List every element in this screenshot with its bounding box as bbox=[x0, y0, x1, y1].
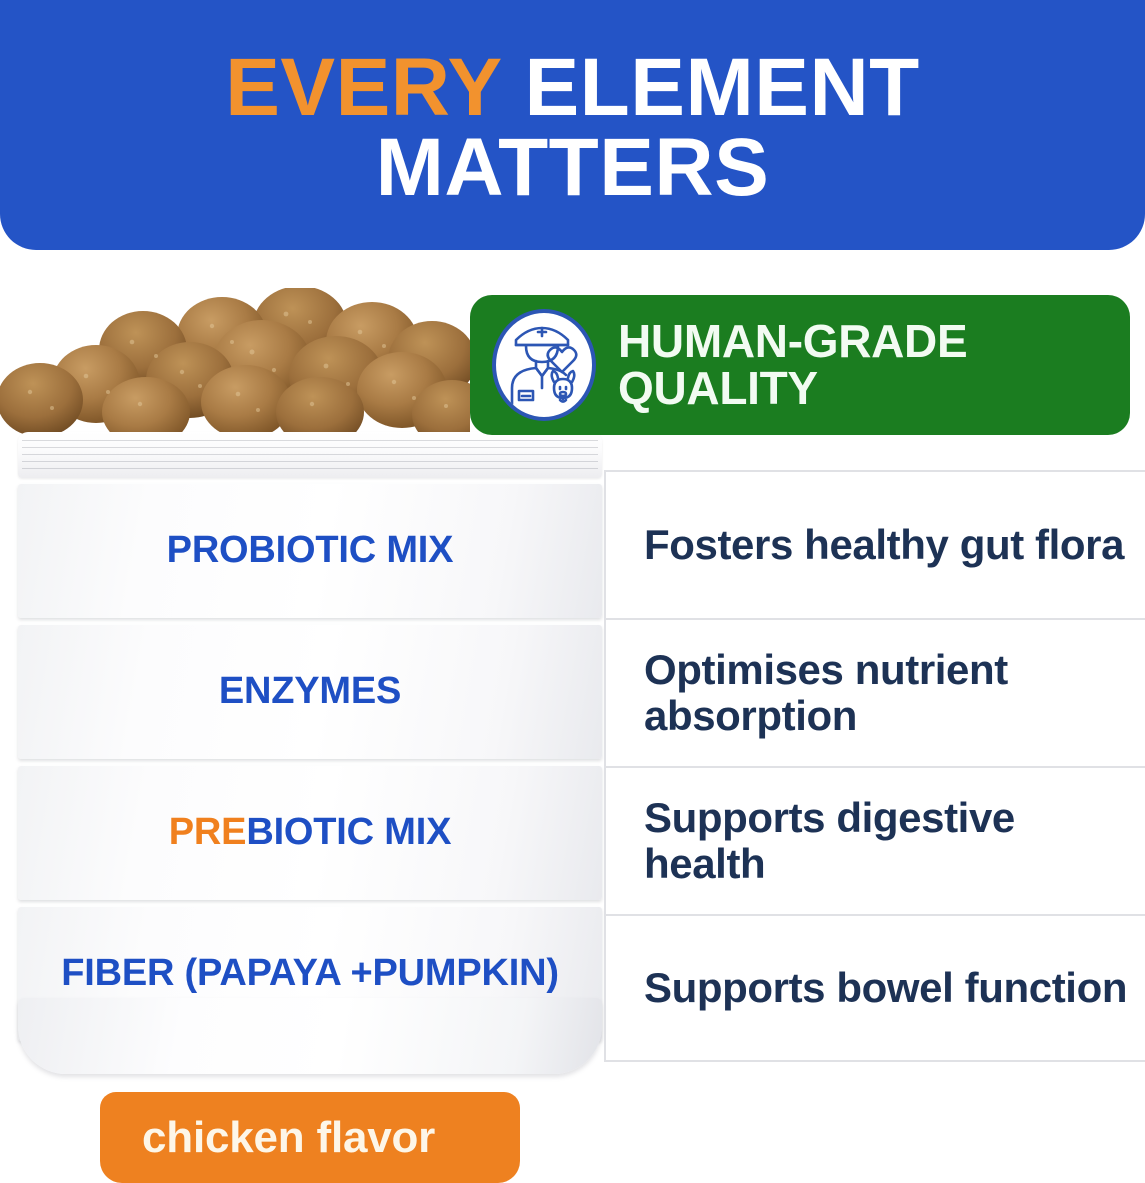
benefits-column: Fosters healthy gut flora Optimises nutr… bbox=[604, 470, 1145, 1062]
dog-treat-kibble-pile-icon bbox=[0, 288, 470, 438]
ingredient-label: PREBIOTIC MIX bbox=[145, 813, 475, 853]
benefit-text: Supports bowel function bbox=[644, 965, 1127, 1011]
jar-segment-enzymes: ENZYMES bbox=[18, 625, 602, 759]
vet-with-dog-and-heart-icon bbox=[492, 309, 596, 421]
flavor-tag-label: chicken flavor bbox=[142, 1113, 435, 1163]
benefit-row: Supports bowel function bbox=[606, 914, 1145, 1062]
banner-word-element: ELEMENT bbox=[524, 42, 919, 133]
banner-headline-line-1: EVERY ELEMENT bbox=[225, 48, 920, 128]
benefit-text: Fosters healthy gut flora bbox=[644, 522, 1124, 568]
jar-lid bbox=[18, 432, 602, 478]
flavor-tag: chicken flavor bbox=[100, 1092, 520, 1183]
benefit-text: Supports digestive health bbox=[644, 795, 1137, 887]
benefit-text: Optimises nutrient absorption bbox=[644, 647, 1137, 739]
jar-lid-ridge bbox=[22, 468, 598, 469]
benefit-row: Supports digestive health bbox=[606, 766, 1145, 914]
jar-base bbox=[18, 998, 602, 1074]
badge-label: HUMAN-GRADE QUALITY bbox=[618, 318, 967, 412]
ingredient-label-rest: BIOTIC MIX bbox=[246, 811, 451, 853]
badge-label-line-2: QUALITY bbox=[618, 365, 967, 412]
ingredient-label: ENZYMES bbox=[195, 672, 425, 712]
jar-lid-ridge bbox=[22, 440, 598, 441]
jar-lid-ridge bbox=[22, 454, 598, 455]
benefit-row: Fosters healthy gut flora bbox=[606, 470, 1145, 618]
ingredient-label: PROBIOTIC MIX bbox=[143, 531, 478, 571]
badge-label-line-1: HUMAN-GRADE bbox=[618, 318, 967, 365]
jar-lid-ridge bbox=[22, 461, 598, 462]
benefit-row: Optimises nutrient absorption bbox=[606, 618, 1145, 766]
banner-headline-line-2: MATTERS bbox=[376, 128, 770, 208]
jar-lid-ridge bbox=[22, 447, 598, 448]
human-grade-quality-badge: HUMAN-GRADE QUALITY bbox=[470, 295, 1130, 435]
infographic-root: EVERY ELEMENT MATTERS bbox=[0, 0, 1145, 1183]
header-banner: EVERY ELEMENT MATTERS bbox=[0, 0, 1145, 250]
jar-segment-probiotic-mix: PROBIOTIC MIX bbox=[18, 484, 602, 618]
jar-segment-prebiotic-mix: PREBIOTIC MIX bbox=[18, 766, 602, 900]
banner-accent-word: EVERY bbox=[225, 42, 501, 133]
ingredient-label-prefix: PRE bbox=[169, 811, 247, 853]
supplement-jar: PROBIOTIC MIX ENZYMES PREBIOTIC MIX FIBE… bbox=[18, 432, 602, 1072]
ingredient-label: FIBER (PAPAYA +PUMPKIN) bbox=[37, 954, 583, 994]
